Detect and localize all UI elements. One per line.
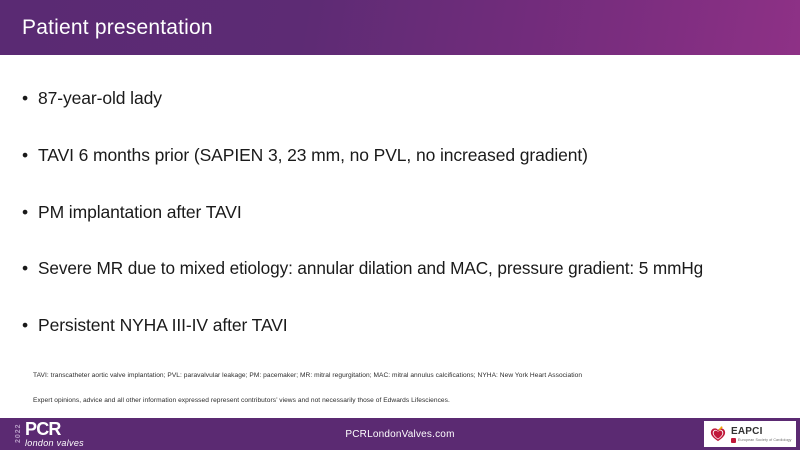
slide-body: • 87-year-old lady • TAVI 6 months prior… bbox=[0, 55, 800, 360]
list-item-label: TAVI 6 months prior (SAPIEN 3, 23 mm, no… bbox=[38, 145, 588, 165]
slide-footer: PCRLondonValves.com 2022 PCR london valv… bbox=[0, 418, 800, 450]
eapci-labels: EAPCI European Society of Cardiology bbox=[731, 426, 792, 443]
list-item-label: 87-year-old lady bbox=[38, 88, 162, 108]
list-item-label: PM implantation after TAVI bbox=[38, 202, 242, 222]
logo-year-label: 2022 bbox=[14, 421, 23, 446]
list-item: • Severe MR due to mixed etiology: annul… bbox=[0, 258, 703, 278]
heart-icon bbox=[709, 425, 727, 443]
footnotes: TAVI: transcatheter aortic valve implant… bbox=[33, 371, 753, 405]
list-item: • TAVI 6 months prior (SAPIEN 3, 23 mm, … bbox=[0, 145, 588, 165]
logo-brand-label: PCR bbox=[25, 421, 84, 437]
list-item: • Persistent NYHA III-IV after TAVI bbox=[0, 315, 288, 335]
esc-mark-icon bbox=[731, 438, 736, 443]
list-item-label: Persistent NYHA III-IV after TAVI bbox=[38, 315, 288, 335]
eapci-logo: EAPCI European Society of Cardiology bbox=[704, 421, 796, 447]
footer-website-url: PCRLondonValves.com bbox=[0, 418, 800, 450]
logo-event-label: london valves bbox=[25, 438, 84, 449]
bullet-icon: • bbox=[22, 88, 28, 108]
eapci-society-label: European Society of Cardiology bbox=[738, 438, 792, 443]
list-item: • PM implantation after TAVI bbox=[0, 202, 242, 222]
abbreviations-note: TAVI: transcatheter aortic valve implant… bbox=[33, 371, 753, 380]
bullet-icon: • bbox=[22, 258, 28, 278]
bullet-icon: • bbox=[22, 202, 28, 222]
bullet-icon: • bbox=[22, 315, 28, 335]
slide-header: Patient presentation bbox=[0, 0, 800, 55]
disclaimer-note: Expert opinions, advice and all other in… bbox=[33, 396, 753, 405]
page-title: Patient presentation bbox=[22, 16, 213, 40]
list-item: • 87-year-old lady bbox=[0, 88, 162, 108]
list-item-label: Severe MR due to mixed etiology: annular… bbox=[38, 258, 703, 278]
pcr-london-valves-logo: 2022 PCR london valves bbox=[14, 421, 84, 448]
logo-wordmark: PCR london valves bbox=[25, 421, 84, 449]
eapci-society-line: European Society of Cardiology bbox=[731, 438, 792, 443]
slide: Patient presentation • 87-year-old lady … bbox=[0, 0, 800, 450]
eapci-name-label: EAPCI bbox=[731, 426, 792, 437]
bullet-icon: • bbox=[22, 145, 28, 165]
